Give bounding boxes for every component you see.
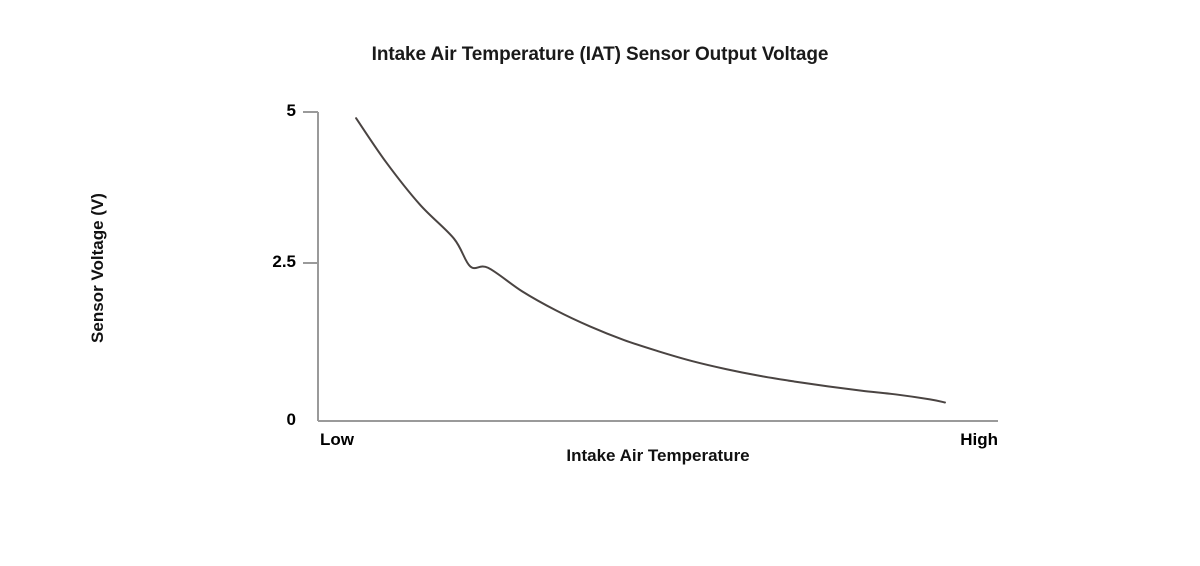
axis-lines [303,112,998,421]
plot-area [0,0,1200,566]
data-curve-iat-voltage [356,118,945,402]
chart-figure: Intake Air Temperature (IAT) Sensor Outp… [0,0,1200,566]
